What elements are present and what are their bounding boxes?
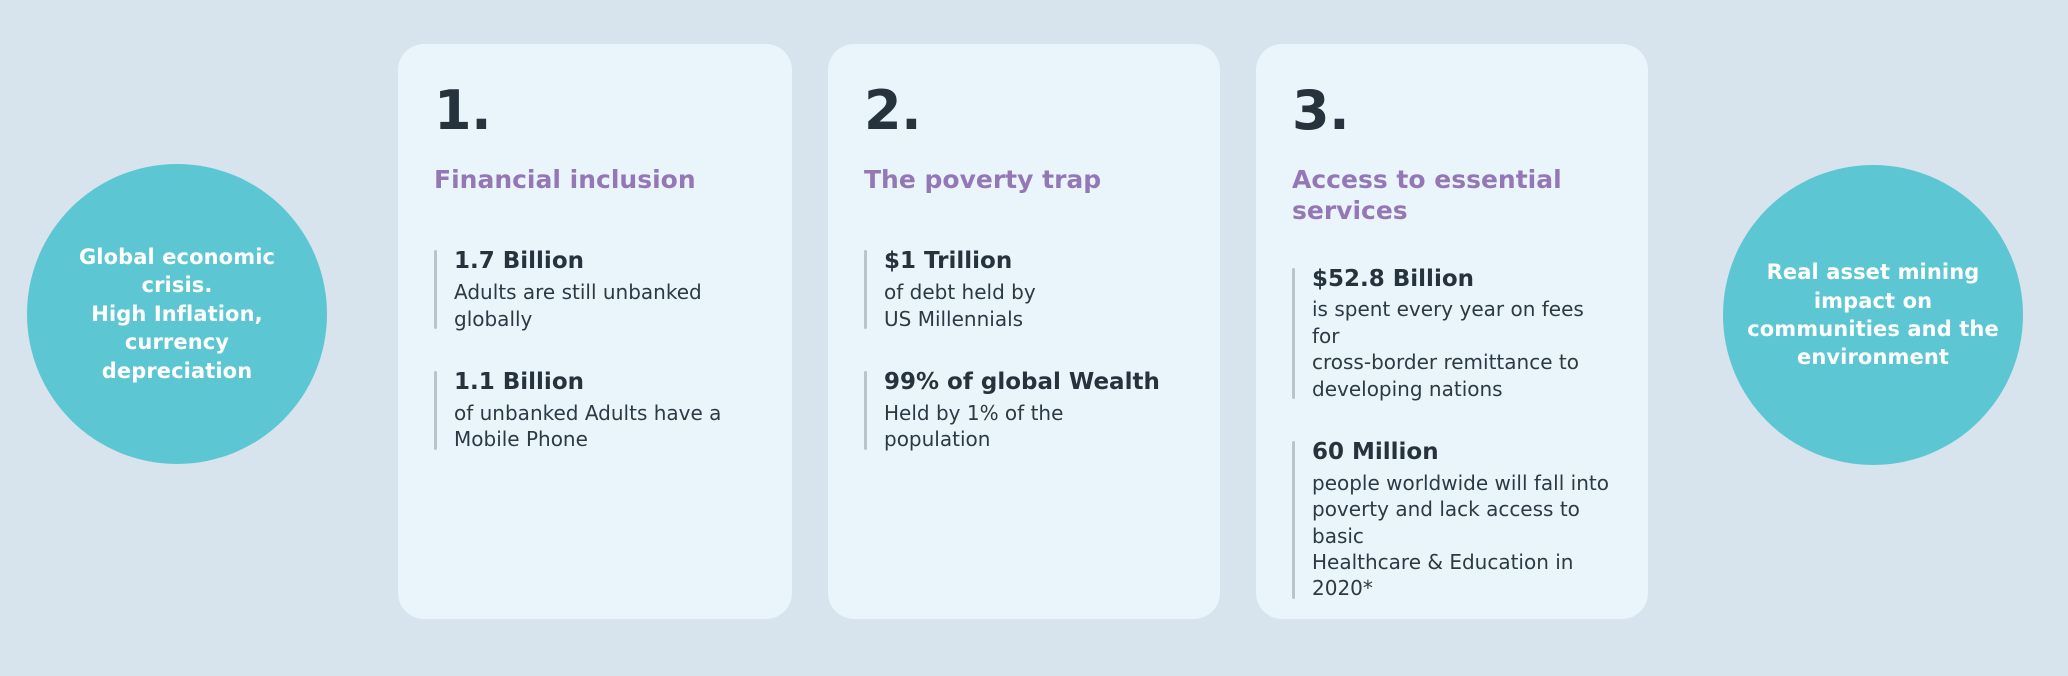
stats-list: $1 Trillion of debt held by US Millennia… bbox=[864, 247, 1184, 452]
stats-list: $52.8 Billion is spent every year on fee… bbox=[1292, 265, 1612, 602]
stat-value: 1.1 Billion bbox=[454, 368, 756, 398]
stat-description: Held by 1% of the population bbox=[884, 400, 1184, 453]
cards-row: 1. Financial inclusion 1.7 Billion Adult… bbox=[398, 44, 1648, 619]
stat-item: $52.8 Billion is spent every year on fee… bbox=[1292, 265, 1612, 402]
stat-description: is spent every year on fees for cross-bo… bbox=[1312, 296, 1612, 402]
card-number: 1. bbox=[434, 84, 756, 138]
stat-item: 1.7 Billion Adults are still unbanked gl… bbox=[434, 247, 756, 332]
stat-item: $1 Trillion of debt held by US Millennia… bbox=[864, 247, 1184, 332]
stat-description: Adults are still unbanked globally bbox=[454, 279, 756, 332]
stat-value: $1 Trillion bbox=[884, 247, 1184, 277]
left-circle-text: Global economic crisis. High Inflation, … bbox=[61, 243, 293, 385]
stat-description: of debt held by US Millennials bbox=[884, 279, 1184, 332]
stat-value: 60 Million bbox=[1312, 438, 1612, 468]
infographic-canvas: Global economic crisis. High Inflation, … bbox=[0, 0, 2068, 676]
card-poverty-trap[interactable]: 2. The poverty trap $1 Trillion of debt … bbox=[828, 44, 1220, 619]
stat-description: people worldwide will fall into poverty … bbox=[1312, 470, 1612, 602]
card-title: The poverty trap bbox=[864, 164, 1184, 195]
stat-value: 99% of global Wealth bbox=[884, 368, 1184, 398]
stat-value: 1.7 Billion bbox=[454, 247, 756, 277]
card-title: Access to essential services bbox=[1292, 164, 1612, 227]
stat-description: of unbanked Adults have a Mobile Phone bbox=[454, 400, 756, 453]
card-access-essential-services[interactable]: 3. Access to essential services $52.8 Bi… bbox=[1256, 44, 1648, 619]
stat-item: 99% of global Wealth Held by 1% of the p… bbox=[864, 368, 1184, 453]
card-title: Financial inclusion bbox=[434, 164, 756, 195]
right-circle-text: Real asset mining impact on communities … bbox=[1729, 258, 2017, 371]
card-number: 2. bbox=[864, 84, 1184, 138]
card-number: 3. bbox=[1292, 84, 1612, 138]
stat-item: 60 Million people worldwide will fall in… bbox=[1292, 438, 1612, 602]
card-financial-inclusion[interactable]: 1. Financial inclusion 1.7 Billion Adult… bbox=[398, 44, 792, 619]
stats-list: 1.7 Billion Adults are still unbanked gl… bbox=[434, 247, 756, 452]
right-context-circle: Real asset mining impact on communities … bbox=[1723, 165, 2023, 465]
left-context-circle: Global economic crisis. High Inflation, … bbox=[27, 164, 327, 464]
stat-item: 1.1 Billion of unbanked Adults have a Mo… bbox=[434, 368, 756, 453]
stat-value: $52.8 Billion bbox=[1312, 265, 1612, 295]
